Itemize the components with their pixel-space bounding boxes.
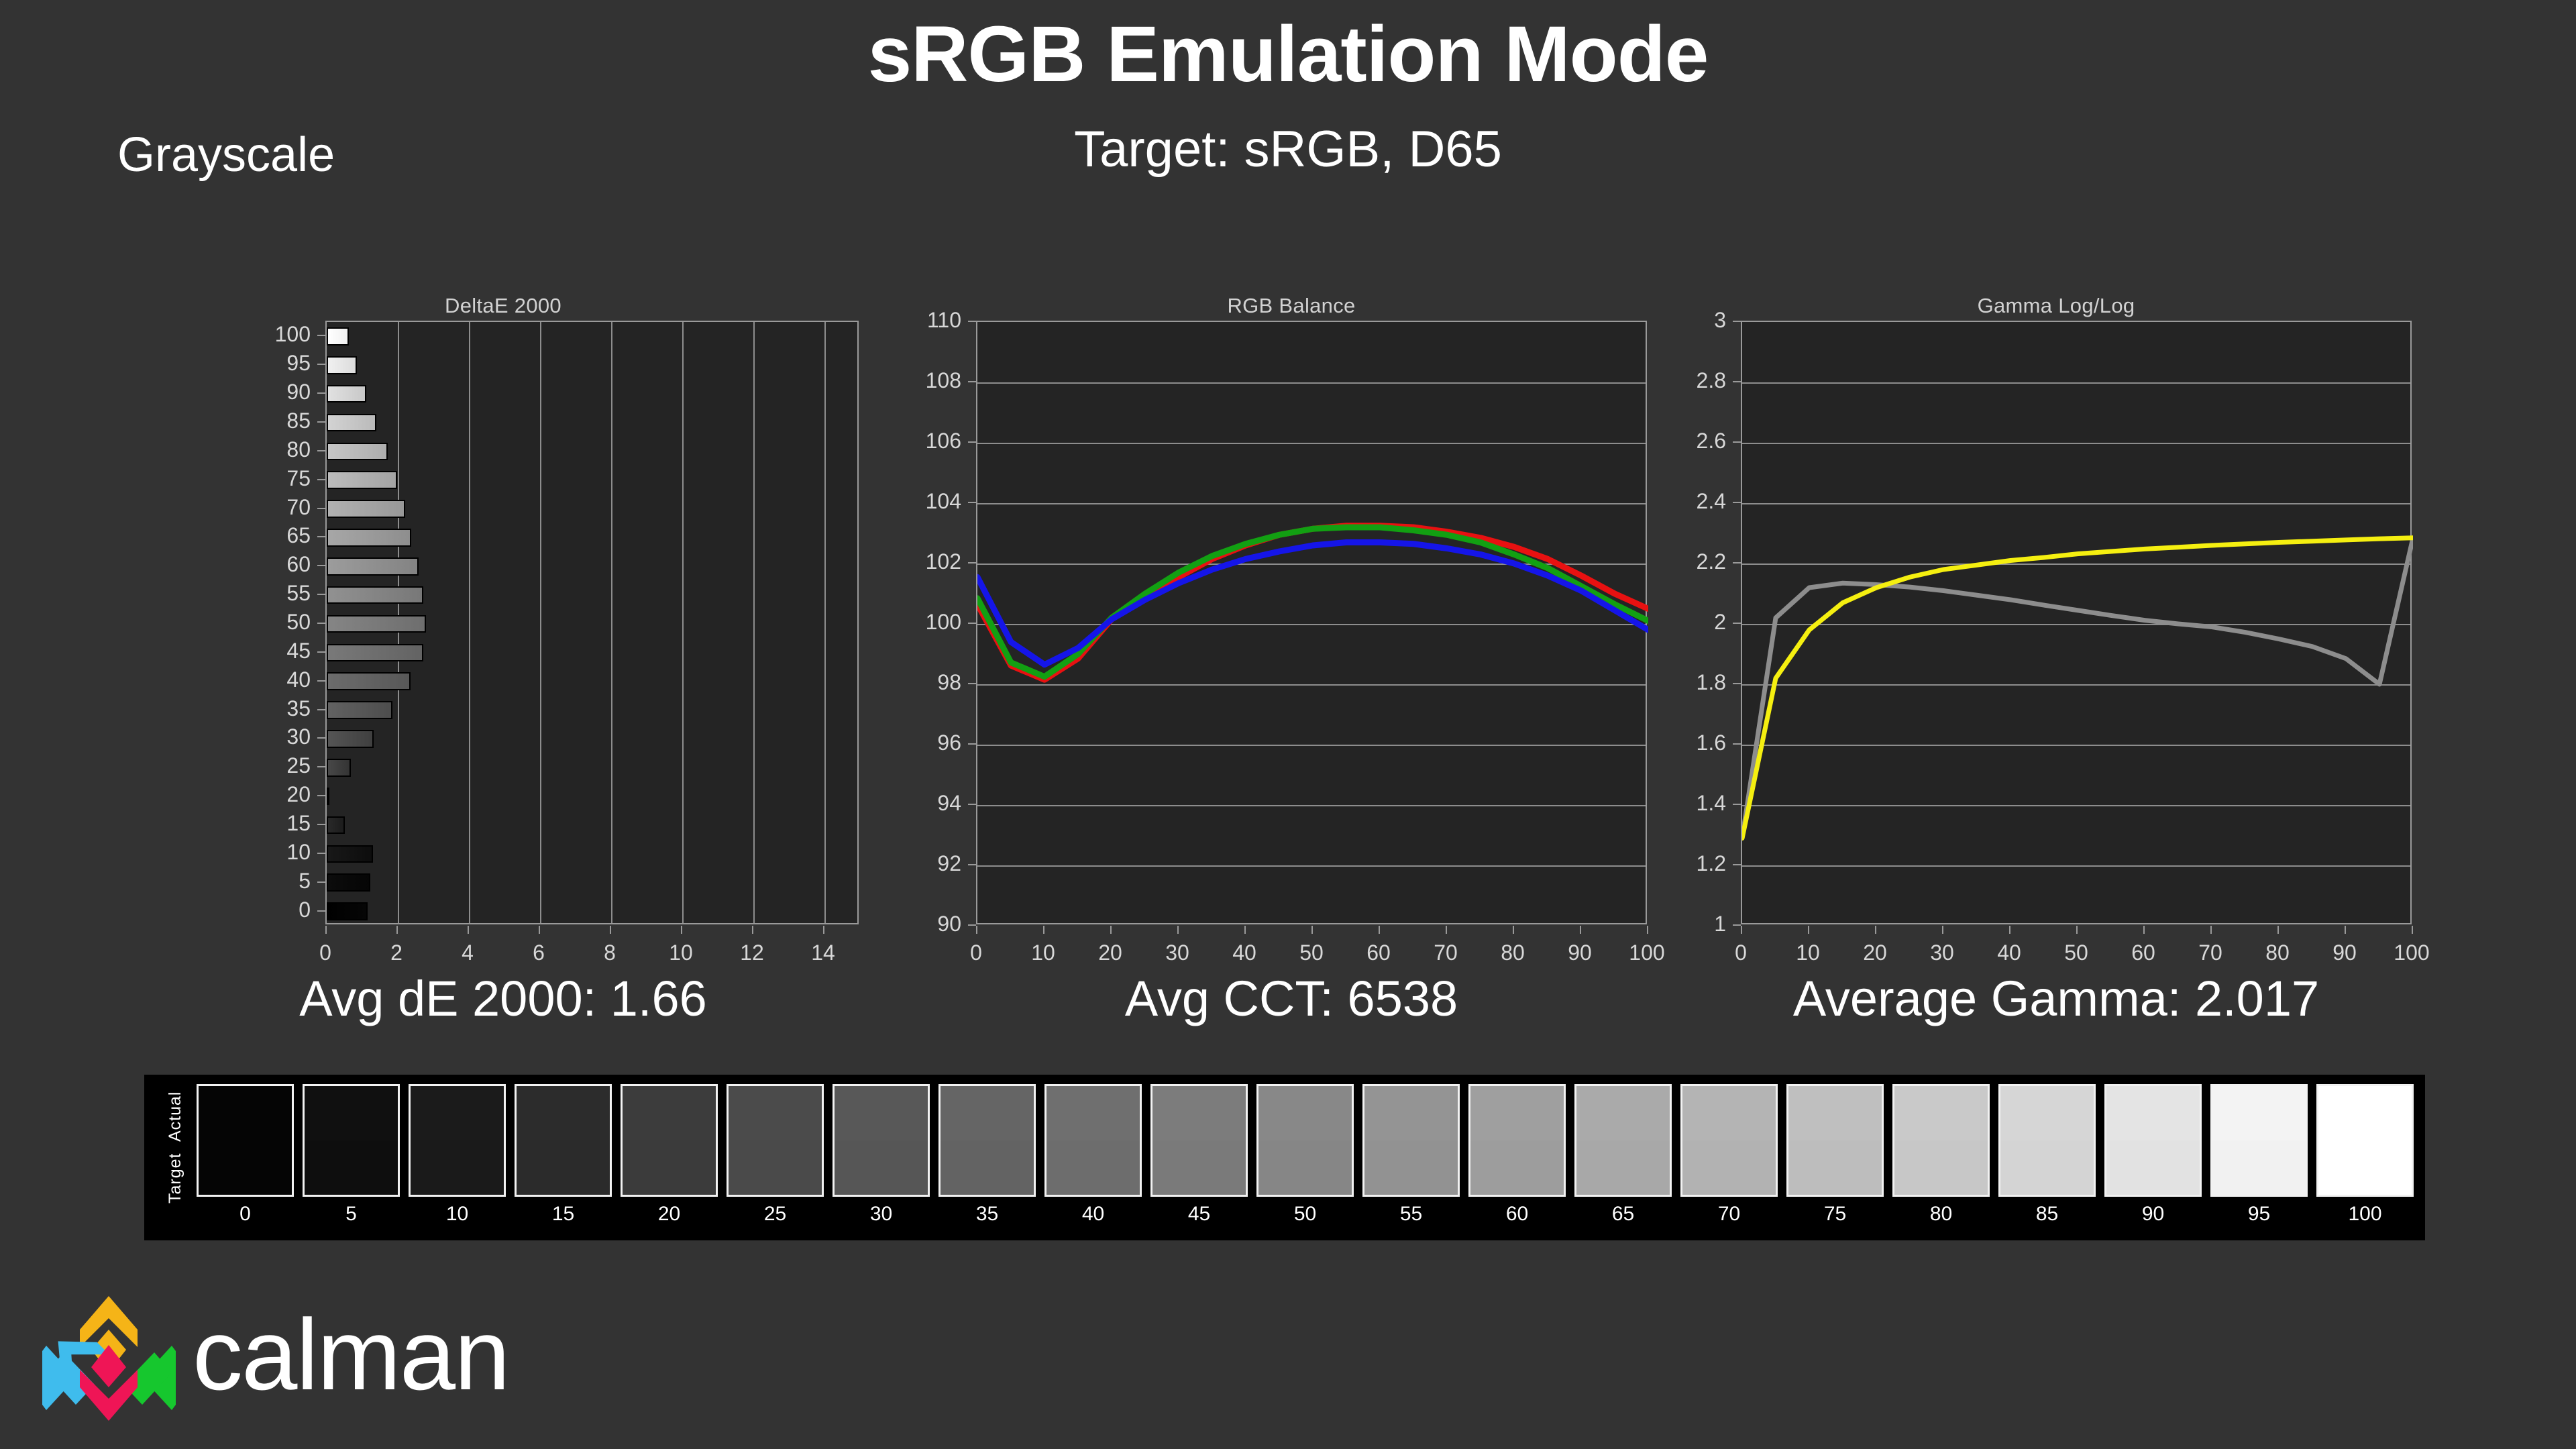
patch-target-half <box>623 1140 716 1195</box>
grayscale-patch <box>938 1084 1036 1197</box>
grayscale-patch <box>1786 1084 1884 1197</box>
y-tickmark <box>968 743 976 745</box>
calman-diamond-icon <box>37 1288 181 1429</box>
patch-actual-half <box>623 1086 716 1140</box>
x-tickmark <box>823 926 824 934</box>
y-tick-label-deltae: 95 <box>134 352 311 374</box>
patch-level-label: 35 <box>938 1204 1036 1224</box>
y-tick-label-gamma: 1.2 <box>1684 853 1726 874</box>
y-tickmark <box>1733 743 1741 745</box>
grayscale-patch <box>409 1084 506 1197</box>
y-tick-label-deltae: 65 <box>134 525 311 546</box>
y-tick-label-gamma: 1.8 <box>1684 672 1726 693</box>
deltae-bar <box>327 443 388 461</box>
y-tick-label-deltae: 55 <box>134 582 311 604</box>
patch-level-label: 95 <box>2210 1204 2308 1224</box>
y-tickmark <box>1733 562 1741 563</box>
grayscale-patch <box>833 1084 930 1197</box>
y-tick-label-rgb_balance: 90 <box>919 913 961 934</box>
y-tickmark <box>1733 623 1741 624</box>
x-tick-label-deltae: 0 <box>285 942 366 963</box>
x-tickmark <box>1379 926 1380 934</box>
calman-wordmark: calman <box>193 1304 509 1405</box>
patch-level-label: 30 <box>833 1204 930 1224</box>
summary-delta-e: Avg dE 2000: 1.66 <box>134 974 872 1024</box>
deltae-bar <box>327 557 419 576</box>
x-tick-label-deltae: 2 <box>356 942 437 963</box>
x-tickmark <box>1942 926 1943 934</box>
y-tick-label-gamma: 2.4 <box>1684 490 1726 512</box>
grayscale-patch <box>1468 1084 1566 1197</box>
series-overlay-gamma <box>1742 322 2413 926</box>
y-tickmark <box>1733 804 1741 805</box>
page-subtitle: Target: sRGB, D65 <box>0 124 2576 175</box>
x-tick-label-deltae: 8 <box>570 942 650 963</box>
patch-level-label: 50 <box>1256 1204 1354 1224</box>
x-tickmark <box>468 926 469 934</box>
patch-target-half <box>835 1140 928 1195</box>
y-tickmark <box>317 508 325 509</box>
y-tickmark <box>968 623 976 624</box>
y-tickmark <box>1733 502 1741 503</box>
y-tickmark <box>968 321 976 322</box>
deltae-bar <box>327 672 411 690</box>
deltae-bar <box>327 902 368 920</box>
series-overlay-rgb_balance <box>977 322 1648 926</box>
patch-level-label: 25 <box>727 1204 824 1224</box>
x-tick-label-rgb_balance: 100 <box>1607 942 1687 963</box>
y-tick-label-rgb_balance: 94 <box>919 792 961 814</box>
gridline-vertical <box>682 322 684 923</box>
page-title: sRGB Emulation Mode <box>0 15 2576 94</box>
patch-target-half <box>1470 1140 1564 1195</box>
y-tick-label-deltae: 70 <box>134 496 311 518</box>
x-tickmark <box>2412 926 2413 934</box>
patch-actual-half <box>729 1086 822 1140</box>
patch-target-half <box>1894 1140 1988 1195</box>
y-tick-label-deltae: 40 <box>134 669 311 690</box>
y-tick-label-deltae: 75 <box>134 468 311 489</box>
chart-panel-gamma: Gamma Log/Log 11.21.41.61.822.22.42.62.8… <box>1684 288 2428 966</box>
patch-actual-half <box>835 1086 928 1140</box>
patch-actual-half <box>517 1086 610 1140</box>
deltae-bar <box>327 471 397 489</box>
deltae-bar <box>327 615 426 633</box>
strip-label-target: Target <box>166 1153 185 1203</box>
patch-level-label: 5 <box>303 1204 400 1224</box>
y-tickmark <box>968 683 976 684</box>
patch-level-label: 100 <box>2316 1204 2414 1224</box>
y-tickmark <box>317 680 325 682</box>
y-tick-label-rgb_balance: 92 <box>919 853 961 874</box>
y-tickmark <box>317 479 325 480</box>
x-tickmark <box>1446 926 1447 934</box>
deltae-bar <box>327 759 351 777</box>
deltae-bar <box>327 644 423 662</box>
grayscale-patch <box>1150 1084 1248 1197</box>
patch-level-label: 60 <box>1468 1204 1566 1224</box>
y-tick-label-rgb_balance: 102 <box>919 551 961 572</box>
x-tickmark <box>2277 926 2279 934</box>
gridline-vertical <box>540 322 541 923</box>
y-tickmark <box>317 392 325 394</box>
y-tick-label-deltae: 0 <box>134 899 311 920</box>
y-tick-label-gamma: 3 <box>1684 309 1726 331</box>
x-tickmark <box>1513 926 1514 934</box>
y-tickmark <box>1733 864 1741 865</box>
patch-target-half <box>2212 1140 2306 1195</box>
deltae-bar <box>327 529 411 547</box>
plot-area-rgb-balance <box>976 321 1647 924</box>
series-line-green <box>977 527 1648 677</box>
plot-area-deltae <box>325 321 859 924</box>
y-tickmark <box>968 562 976 563</box>
y-tick-label-rgb_balance: 100 <box>919 611 961 633</box>
grayscale-patch <box>197 1084 294 1197</box>
y-tick-label-deltae: 30 <box>134 726 311 747</box>
y-tick-label-gamma: 1.6 <box>1684 732 1726 753</box>
y-tickmark <box>317 766 325 767</box>
y-tick-label-deltae: 100 <box>134 323 311 345</box>
deltae-bar <box>327 845 373 863</box>
deltae-bar <box>327 586 423 604</box>
y-tick-label-deltae: 15 <box>134 812 311 834</box>
x-tickmark <box>681 926 682 934</box>
patch-target-half <box>1152 1140 1246 1195</box>
patch-actual-half <box>1788 1086 1882 1140</box>
x-tickmark <box>539 926 540 934</box>
patch-actual-half <box>2318 1086 2412 1140</box>
y-tick-label-deltae: 10 <box>134 841 311 863</box>
patch-target-half <box>1682 1140 1776 1195</box>
x-tickmark <box>396 926 398 934</box>
summary-cct: Avg CCT: 6538 <box>919 974 1664 1024</box>
y-tick-label-gamma: 2.8 <box>1684 370 1726 391</box>
y-tickmark <box>317 737 325 739</box>
patch-actual-half <box>2212 1086 2306 1140</box>
x-tickmark <box>2210 926 2212 934</box>
y-tick-label-deltae: 80 <box>134 439 311 460</box>
y-tickmark <box>317 450 325 451</box>
y-tick-label-gamma: 1.4 <box>1684 792 1726 814</box>
deltae-bar <box>327 500 405 518</box>
patch-level-label: 40 <box>1044 1204 1142 1224</box>
x-tickmark <box>976 926 977 934</box>
deltae-bar <box>327 356 357 374</box>
strip-label-actual: Actual <box>166 1091 185 1142</box>
chart-title-rgb-balance: RGB Balance <box>919 294 1664 318</box>
grayscale-patch <box>2210 1084 2308 1197</box>
plot-area-gamma <box>1741 321 2412 924</box>
x-tickmark <box>1110 926 1112 934</box>
grayscale-patch <box>303 1084 400 1197</box>
report-canvas: sRGB Emulation Mode Target: sRGB, D65 Gr… <box>0 0 2576 1449</box>
patch-actual-half <box>1894 1086 1988 1140</box>
patch-target-half <box>1364 1140 1458 1195</box>
patch-level-label: 10 <box>409 1204 506 1224</box>
x-tickmark <box>2345 926 2346 934</box>
y-tick-label-deltae: 20 <box>134 784 311 805</box>
grayscale-patch <box>515 1084 612 1197</box>
x-tick-label-deltae: 4 <box>427 942 508 963</box>
chart-panel-deltae: DeltaE 2000 0510152025303540455055606570… <box>134 288 872 966</box>
x-tickmark <box>2009 926 2010 934</box>
x-tickmark <box>610 926 611 934</box>
y-tickmark <box>968 441 976 443</box>
y-tickmark <box>317 795 325 796</box>
y-tickmark <box>317 623 325 624</box>
y-tick-label-deltae: 35 <box>134 698 311 719</box>
x-tickmark <box>1244 926 1246 934</box>
y-tick-label-deltae: 60 <box>134 553 311 575</box>
y-tick-label-gamma: 2.2 <box>1684 551 1726 572</box>
patch-level-label: 55 <box>1362 1204 1460 1224</box>
patch-actual-half <box>2106 1086 2200 1140</box>
y-tick-label-rgb_balance: 98 <box>919 672 961 693</box>
patch-level-label: 75 <box>1786 1204 1884 1224</box>
patch-actual-half <box>2000 1086 2094 1140</box>
patch-target-half <box>2318 1140 2412 1195</box>
y-tick-label-rgb_balance: 108 <box>919 370 961 391</box>
y-tickmark <box>317 364 325 365</box>
y-tick-label-deltae: 85 <box>134 410 311 431</box>
chart-title-gamma: Gamma Log/Log <box>1684 294 2428 318</box>
y-tickmark <box>317 335 325 336</box>
y-tickmark <box>968 381 976 382</box>
patch-target-half <box>2000 1140 2094 1195</box>
patch-actual-half <box>1046 1086 1140 1140</box>
y-tick-label-gamma: 1 <box>1684 913 1726 934</box>
grayscale-patch <box>1892 1084 1990 1197</box>
patch-target-half <box>941 1140 1034 1195</box>
deltae-bar <box>327 327 349 345</box>
patch-level-label: 0 <box>197 1204 294 1224</box>
y-tick-label-rgb_balance: 110 <box>919 309 961 331</box>
x-tickmark <box>1875 926 1876 934</box>
patch-actual-half <box>1576 1086 1670 1140</box>
patch-actual-half <box>1364 1086 1458 1140</box>
grayscale-patch <box>621 1084 718 1197</box>
y-tickmark <box>1733 381 1741 382</box>
gridline-vertical <box>469 322 470 923</box>
y-tickmark <box>317 709 325 710</box>
grayscale-patch <box>2316 1084 2414 1197</box>
grayscale-patch-strip: Actual Target 05101520253035404550556065… <box>144 1075 2425 1240</box>
deltae-bar <box>327 816 345 835</box>
grayscale-patch <box>1362 1084 1460 1197</box>
x-tick-label-deltae: 6 <box>498 942 579 963</box>
patch-target-half <box>1258 1140 1352 1195</box>
y-tickmark <box>1733 321 1741 322</box>
y-tickmark <box>968 804 976 805</box>
patch-actual-half <box>411 1086 504 1140</box>
patch-level-label: 15 <box>515 1204 612 1224</box>
y-tick-label-deltae: 90 <box>134 381 311 402</box>
patch-actual-half <box>1470 1086 1564 1140</box>
deltae-bar <box>327 730 374 748</box>
calman-logo: calman <box>37 1288 641 1429</box>
gridline-vertical <box>753 322 755 923</box>
series-line-target-gamma <box>1742 538 2413 839</box>
y-tickmark <box>317 594 325 595</box>
y-tickmark <box>317 910 325 912</box>
y-tick-label-gamma: 2.6 <box>1684 430 1726 451</box>
y-tickmark <box>1733 924 1741 926</box>
y-tickmark <box>968 924 976 926</box>
patch-level-label: 20 <box>621 1204 718 1224</box>
patch-target-half <box>2106 1140 2200 1195</box>
patch-actual-half <box>1258 1086 1352 1140</box>
patch-level-label: 85 <box>1998 1204 2096 1224</box>
y-tick-label-deltae: 25 <box>134 755 311 776</box>
patch-actual-half <box>305 1086 398 1140</box>
gridline-vertical <box>824 322 826 923</box>
deltae-bar <box>327 701 392 719</box>
patch-level-label: 70 <box>1680 1204 1778 1224</box>
y-tickmark <box>317 536 325 537</box>
y-tickmark <box>317 565 325 566</box>
patch-target-half <box>305 1140 398 1195</box>
patch-target-half <box>1046 1140 1140 1195</box>
grayscale-patch <box>2104 1084 2202 1197</box>
deltae-bar <box>327 414 376 432</box>
grayscale-patch <box>1044 1084 1142 1197</box>
grayscale-patch <box>1574 1084 1672 1197</box>
patch-level-label: 90 <box>2104 1204 2202 1224</box>
patch-actual-half <box>1682 1086 1776 1140</box>
patch-actual-half <box>1152 1086 1246 1140</box>
section-label: Grayscale <box>117 131 335 179</box>
chart-panel-rgb-balance: RGB Balance 9092949698100102104106108110… <box>919 288 1664 966</box>
grayscale-patch <box>1256 1084 1354 1197</box>
x-tickmark <box>1647 926 1648 934</box>
patch-actual-half <box>199 1086 292 1140</box>
patch-target-half <box>411 1140 504 1195</box>
y-tickmark <box>968 864 976 865</box>
y-tick-label-deltae: 50 <box>134 611 311 633</box>
patch-level-label: 45 <box>1150 1204 1248 1224</box>
summary-gamma: Average Gamma: 2.017 <box>1684 974 2428 1024</box>
x-tickmark <box>752 926 753 934</box>
y-tick-label-rgb_balance: 104 <box>919 490 961 512</box>
x-tickmark <box>325 926 327 934</box>
y-tick-label-rgb_balance: 96 <box>919 732 961 753</box>
x-tickmark <box>1580 926 1581 934</box>
deltae-bar <box>327 788 329 806</box>
y-tickmark <box>317 421 325 423</box>
y-tickmark <box>1733 683 1741 684</box>
chart-title-deltae: DeltaE 2000 <box>134 294 872 318</box>
x-tickmark <box>1177 926 1179 934</box>
x-tick-label-deltae: 14 <box>783 942 863 963</box>
x-tickmark <box>1808 926 1809 934</box>
patch-target-half <box>517 1140 610 1195</box>
x-tickmark <box>1043 926 1044 934</box>
patch-target-half <box>729 1140 822 1195</box>
grayscale-patch <box>1998 1084 2096 1197</box>
deltae-bar <box>327 385 366 403</box>
y-tickmark <box>317 853 325 854</box>
patch-level-label: 80 <box>1892 1204 1990 1224</box>
grayscale-patch <box>727 1084 824 1197</box>
x-tick-label-gamma: 100 <box>2371 942 2452 963</box>
y-tick-label-gamma: 2 <box>1684 611 1726 633</box>
y-tickmark <box>968 502 976 503</box>
x-tickmark <box>1741 926 1742 934</box>
y-tickmark <box>317 824 325 825</box>
y-tick-label-deltae: 5 <box>134 870 311 892</box>
x-tick-label-deltae: 10 <box>641 942 721 963</box>
x-tickmark <box>2143 926 2145 934</box>
y-tick-label-deltae: 45 <box>134 640 311 661</box>
patch-target-half <box>1576 1140 1670 1195</box>
patch-actual-half <box>941 1086 1034 1140</box>
deltae-bar <box>327 873 370 892</box>
patch-target-half <box>199 1140 292 1195</box>
x-tickmark <box>2076 926 2078 934</box>
y-tickmark <box>1733 441 1741 443</box>
gridline-vertical <box>611 322 612 923</box>
grayscale-patch <box>1680 1084 1778 1197</box>
x-tickmark <box>1311 926 1313 934</box>
y-tickmark <box>317 881 325 883</box>
patch-target-half <box>1788 1140 1882 1195</box>
y-tickmark <box>317 651 325 653</box>
y-tick-label-rgb_balance: 106 <box>919 430 961 451</box>
x-tick-label-deltae: 12 <box>712 942 792 963</box>
patch-level-label: 65 <box>1574 1204 1672 1224</box>
